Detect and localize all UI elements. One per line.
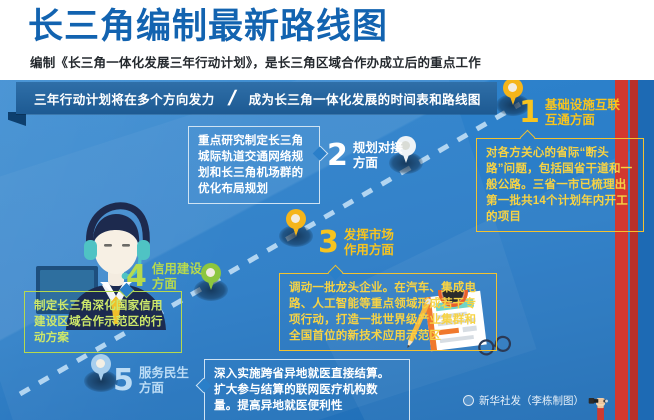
callout-notch-1: [520, 130, 536, 146]
credit-text: 新华社发（李栋制图）: [479, 393, 584, 408]
step-title-3: 发挥市场 作用方面: [344, 228, 394, 258]
callout-notch-2: [313, 146, 329, 162]
step-callout-1: 对各方关心的省际“断头路”问题，包括国省干道和一般公路。三省一市已梳理出第一批共…: [476, 138, 644, 232]
step-number-3: 3: [318, 228, 339, 258]
ribbon-bar: 三年行动计划将在多个方向发力 / 成为长三角一体化发展的时间表和路线图: [16, 82, 497, 114]
right-red-bar-inner: [630, 76, 638, 420]
step-label-3: 3 发挥市场 作用方面: [318, 228, 394, 258]
infographic-canvas: 1 基础设施互联 互通方面 对各方关心的省际“断头路”问题，包括国省干道和一般公…: [0, 76, 654, 420]
step-label-2: 2 规划对接 方面: [327, 141, 403, 171]
map-pin-5: [88, 354, 114, 392]
callout-notch-3: [328, 265, 344, 281]
page-title: 长三角编制最新路线图: [28, 7, 388, 47]
xinhua-logo-icon: [463, 395, 474, 406]
infographic-page: 长三角编制最新路线图 编制《长三角一体化发展三年行动计划》，是长三角区域合作办成…: [0, 0, 654, 420]
page-header: 长三角编制最新路线图 编制《长三角一体化发展三年行动计划》，是长三角区域合作办成…: [0, 0, 654, 80]
step-callout-4: 制定长三角深化国家信用建设区域合作示范区的行动方案: [24, 291, 182, 353]
step-label-4: 4 信用建设 方面: [126, 262, 202, 292]
step-number-1: 1: [519, 98, 540, 128]
callout-notch-5: [196, 378, 212, 394]
step-callout-5: 深入实施跨省异地就医直接结算。扩大参与结算的联网医疗机构数量。提高异地就医便利性: [204, 359, 410, 420]
step-number-5: 5: [113, 366, 134, 396]
step-callout-2: 重点研究制定长三角城际轨道交通网络规划和长三角机场群的优化布局规划: [188, 126, 320, 204]
ribbon-right-text: 成为长三角一体化发展的时间表和路线图: [249, 89, 481, 108]
step-title-4: 信用建设 方面: [152, 262, 202, 292]
right-blue-edge: [638, 76, 654, 420]
credit-line: 新华社发（李栋制图）: [463, 393, 584, 408]
ribbon-divider: /: [212, 88, 252, 109]
step-label-1: 1 基础设施互联 互通方面: [519, 98, 620, 128]
map-pin-3: [283, 209, 309, 247]
step-title-2: 规划对接 方面: [353, 141, 403, 171]
step-number-2: 2: [327, 141, 348, 171]
page-subtitle: 编制《长三角一体化发展三年行动计划》，是长三角区域合作办成立后的重点工作: [30, 52, 481, 71]
ribbon-left-text: 三年行动计划将在多个方向发力: [34, 89, 215, 108]
step-title-1: 基础设施互联 互通方面: [545, 98, 620, 128]
step-title-5: 服务民生 方面: [139, 366, 189, 396]
step-label-5: 5 服务民生 方面: [113, 366, 189, 396]
step-callout-3: 调动一批龙头企业。在汽车、集成电路、人工智能等重点领域形成若干专项行动，打造一批…: [279, 273, 497, 351]
